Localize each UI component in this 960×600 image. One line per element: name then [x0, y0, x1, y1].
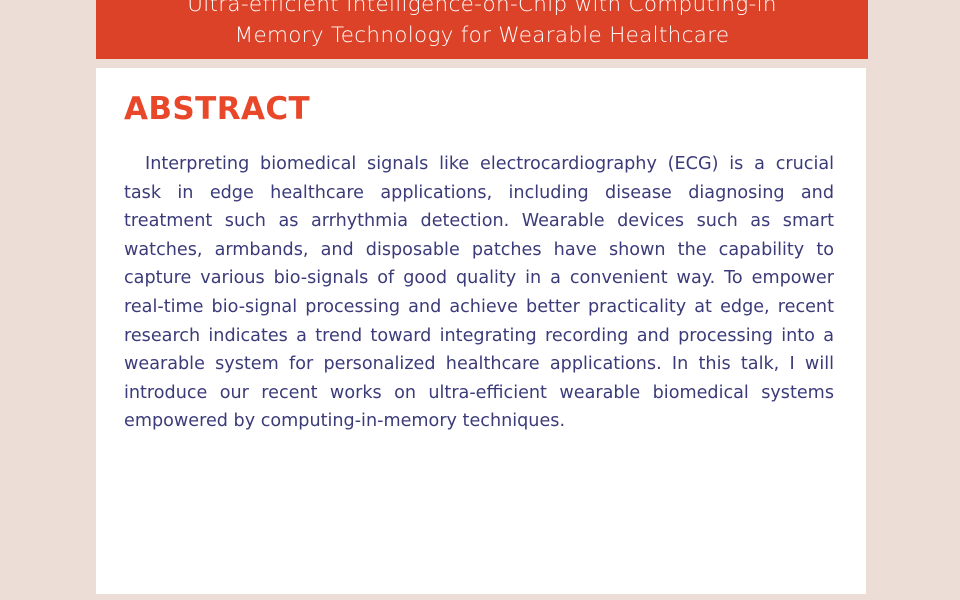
- slide-title-line-1: Ultra-efficient Intelligence-on-Chip wit…: [187, 0, 777, 20]
- presentation-slide: Ultra-efficient Intelligence-on-Chip wit…: [0, 0, 960, 600]
- bottom-margin-strip: [0, 594, 960, 600]
- title-banner: Ultra-efficient Intelligence-on-Chip wit…: [96, 0, 868, 59]
- abstract-card: ABSTRACT Interpreting biomedical signals…: [96, 68, 866, 594]
- slide-title-line-2: Memory Technology for Wearable Healthcar…: [235, 20, 730, 51]
- abstract-body-text: Interpreting biomedical signals like ele…: [124, 150, 836, 436]
- abstract-heading: ABSTRACT: [124, 92, 836, 126]
